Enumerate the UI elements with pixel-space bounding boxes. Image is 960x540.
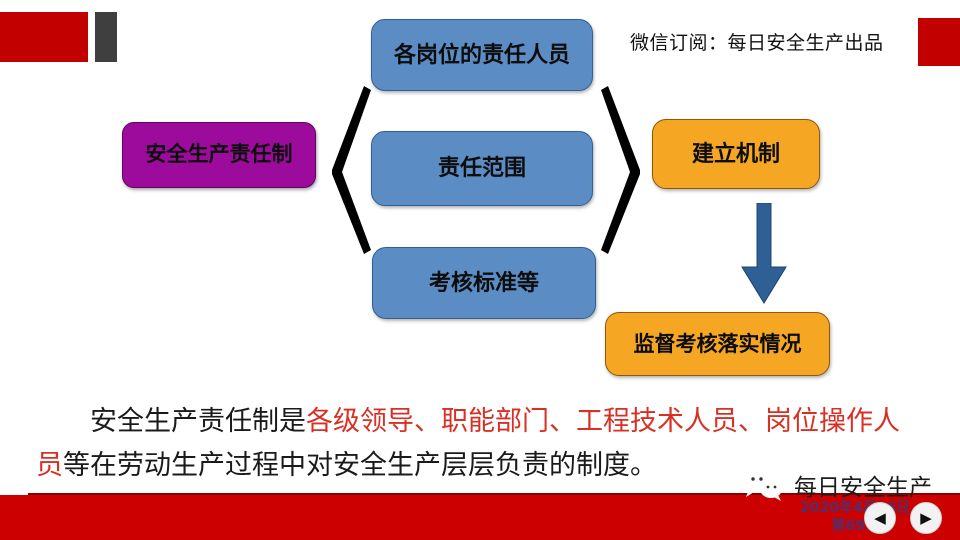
nav-next-button[interactable]: ▶	[910, 502, 942, 534]
wechat-account-name: 每日安全生产	[794, 468, 932, 502]
right-chevron-bracket	[600, 86, 642, 254]
nav-previous-button[interactable]: ◀	[864, 502, 896, 534]
diagram-node-root: 安全生产责任制	[122, 122, 316, 188]
decor-block-red-top-right	[918, 18, 960, 66]
decor-block-red-top-left	[0, 12, 88, 62]
body-segment-1: 安全生产责任制是	[90, 406, 306, 437]
diagram-node-outcome-1: 建立机制	[652, 119, 820, 189]
diagram-node-branch-2: 责任范围	[371, 131, 593, 206]
body-segment-3: 等在劳动生产过程中对安全生产层层负责的制度。	[63, 450, 657, 481]
wechat-badge: 每日安全生产	[742, 468, 932, 502]
left-chevron-bracket	[330, 86, 372, 254]
slide-canvas: 微信订阅：每日安全生产出品 安全生产责任制 各岗位的责任人员 责任范围 考核标准…	[0, 0, 960, 540]
wechat-icon	[742, 469, 786, 501]
decor-block-gray-top-left	[95, 12, 117, 62]
diagram-node-branch-1: 各岗位的责任人员	[371, 19, 593, 91]
header-note: 微信订阅：每日安全生产出品	[630, 28, 884, 55]
diagram-node-outcome-2: 监督考核落实情况	[605, 312, 830, 376]
diagram-node-branch-3: 考核标准等	[372, 247, 596, 319]
down-arrow-icon	[738, 203, 790, 307]
